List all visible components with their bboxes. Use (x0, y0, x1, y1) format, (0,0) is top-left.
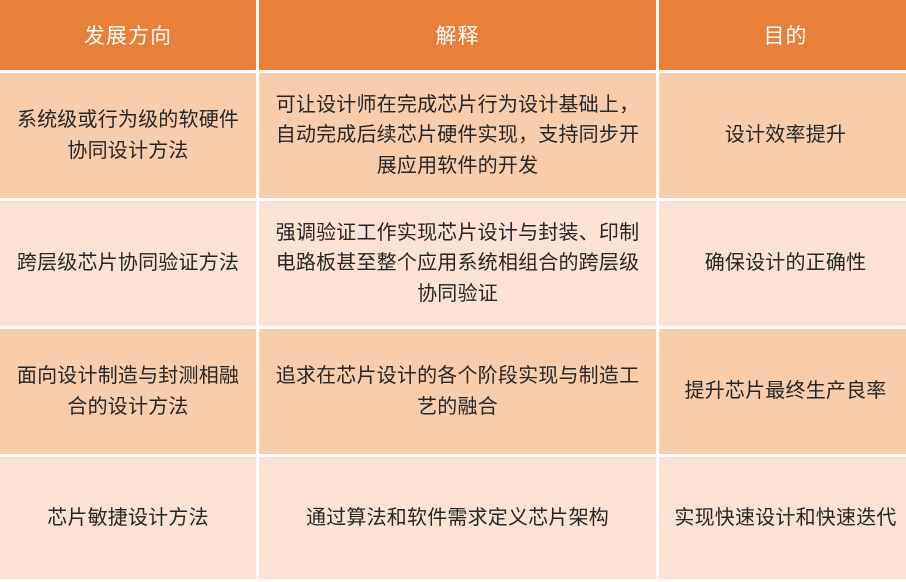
cell-explanation: 通过算法和软件需求定义芯片架构 (259, 457, 656, 579)
cell-explanation: 强调验证工作实现芯片设计与封装、印制电路板甚至整个应用系统相组合的跨层级协同验证 (259, 201, 656, 326)
column-header-direction: 发展方向 (0, 0, 256, 70)
cell-direction: 芯片敏捷设计方法 (0, 457, 256, 579)
cell-explanation: 可让设计师在完成芯片行为设计基础上，自动完成后续芯片硬件实现，支持同步开展应用软… (259, 73, 656, 198)
cell-purpose: 实现快速设计和快速迭代 (659, 457, 906, 579)
column-header-explanation: 解释 (259, 0, 656, 70)
table-container: 发展方向 解释 目的 系统级或行为级的软硬件协同设计方法 可让设计师在完成芯片行… (0, 0, 906, 523)
table-header: 发展方向 解释 目的 (0, 0, 906, 70)
column-header-purpose: 目的 (659, 0, 906, 70)
cell-purpose: 确保设计的正确性 (659, 201, 906, 326)
table-row: 芯片敏捷设计方法 通过算法和软件需求定义芯片架构 实现快速设计和快速迭代 (0, 457, 906, 579)
cell-direction: 跨层级芯片协同验证方法 (0, 201, 256, 326)
header-row: 发展方向 解释 目的 (0, 0, 906, 70)
cell-direction: 系统级或行为级的软硬件协同设计方法 (0, 73, 256, 198)
table-row: 面向设计制造与封测相融合的设计方法 追求在芯片设计的各个阶段实现与制造工艺的融合… (0, 329, 906, 454)
cell-purpose: 设计效率提升 (659, 73, 906, 198)
cell-purpose: 提升芯片最终生产良率 (659, 329, 906, 454)
table-row: 系统级或行为级的软硬件协同设计方法 可让设计师在完成芯片行为设计基础上，自动完成… (0, 73, 906, 198)
table-body: 系统级或行为级的软硬件协同设计方法 可让设计师在完成芯片行为设计基础上，自动完成… (0, 73, 906, 579)
table-row: 跨层级芯片协同验证方法 强调验证工作实现芯片设计与封装、印制电路板甚至整个应用系… (0, 201, 906, 326)
cell-direction: 面向设计制造与封测相融合的设计方法 (0, 329, 256, 454)
development-directions-table: 发展方向 解释 目的 系统级或行为级的软硬件协同设计方法 可让设计师在完成芯片行… (0, 0, 906, 582)
cell-explanation: 追求在芯片设计的各个阶段实现与制造工艺的融合 (259, 329, 656, 454)
